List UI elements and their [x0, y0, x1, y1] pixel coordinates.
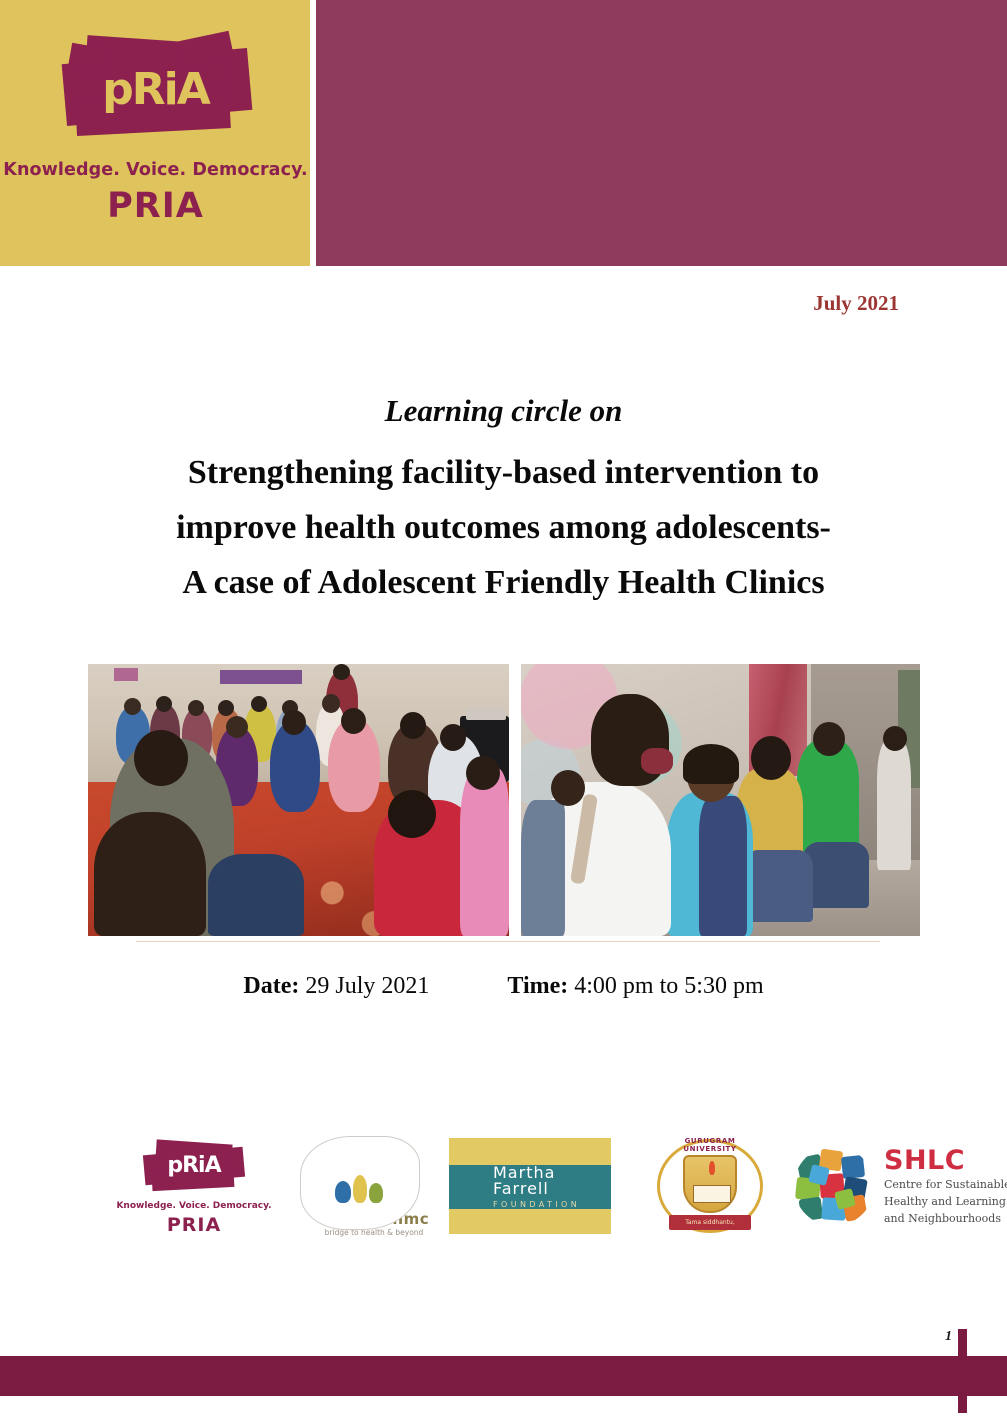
pria-brushstroke-small-icon: pRiA: [142, 1137, 246, 1195]
mff-subtitle: FOUNDATION: [493, 1201, 611, 1209]
shlc-lockup: SHLC Centre for Sustainable, Healthy and…: [794, 1146, 1007, 1226]
gurugram-university-crest-icon: GURUGRAM UNIVERSITY Tama siddhantu, jyot…: [657, 1133, 763, 1239]
header-maroon-panel: [316, 0, 1007, 266]
partner-logo-martha-farrell-foundation: M Martha Farrell FOUNDATION: [430, 1118, 630, 1254]
time-value: 4:00 pm to 5:30 pm: [574, 973, 763, 999]
cover-photo-row: [88, 664, 920, 936]
pria-logo: pRiA Knowledge. Voice. Democracy. PRIA: [28, 18, 283, 246]
title-line-1: Strengthening facility-based interventio…: [90, 445, 917, 500]
date-label: Date:: [243, 973, 299, 999]
partner-logo-pria: pRiA Knowledge. Voice. Democracy. PRIA: [104, 1118, 284, 1254]
partner-logo-gurugram-university: GURUGRAM UNIVERSITY Tama siddhantu, jyot…: [620, 1118, 800, 1254]
header-band: pRiA Knowledge. Voice. Democracy. PRIA: [0, 0, 1007, 266]
time-label: Time:: [507, 973, 568, 999]
photo-community-outreach-interaction: [521, 664, 920, 936]
pria-brushstroke-icon: pRiA: [60, 30, 252, 150]
footer-bar: [0, 1356, 1007, 1396]
event-meta: Date: 29 July 2021 Time: 4:00 pm to 5:30…: [0, 973, 1007, 1000]
cover-page: pRiA Knowledge. Voice. Democracy. PRIA J…: [0, 0, 1007, 1424]
title-kicker: Learning circle on: [0, 392, 1007, 431]
shlc-subtitle-line-1: Centre for Sustainable,: [884, 1178, 1007, 1191]
pria-small-wordmark: PRIA: [167, 1214, 221, 1236]
photo-divider-rule: [136, 941, 880, 942]
mff-card: M Martha Farrell FOUNDATION: [449, 1138, 611, 1234]
date-value: 29 July 2021: [305, 973, 429, 999]
photo-adolescent-group-discussion: [88, 664, 509, 936]
shlc-globe-icon: [794, 1146, 874, 1226]
pria-wordmark: PRIA: [107, 186, 204, 226]
title-block: Learning circle on Strengthening facilit…: [0, 392, 1007, 610]
partner-logo-mamta-himc: mamta-himc bridge to health & beyond: [270, 1118, 450, 1254]
pria-small-tagline: Knowledge. Voice. Democracy.: [116, 1201, 271, 1211]
mamta-figures-icon: [335, 1173, 389, 1203]
shlc-subtitle-line-3: and Neighbourhoods: [884, 1212, 1007, 1225]
page-number: 1: [945, 1329, 952, 1345]
gu-shield-icon: [683, 1155, 737, 1213]
partner-logo-row: pRiA Knowledge. Voice. Democracy. PRIA m…: [104, 1118, 954, 1254]
partner-logo-shlc: SHLC Centre for Sustainable, Healthy and…: [794, 1118, 1007, 1254]
title-line-2: improve health outcomes among adolescent…: [90, 500, 917, 555]
shlc-text-block: SHLC Centre for Sustainable, Healthy and…: [884, 1147, 1007, 1226]
title-line-3: A case of Adolescent Friendly Health Cli…: [90, 555, 917, 610]
issue-date: July 2021: [813, 291, 899, 316]
page-title: Strengthening facility-based interventio…: [0, 445, 1007, 610]
shlc-acronym: SHLC: [884, 1147, 1007, 1174]
india-map-icon: [300, 1136, 420, 1230]
pria-mark-glyphs: pRiA: [60, 30, 252, 150]
mff-teal-band: Martha Farrell FOUNDATION: [449, 1165, 611, 1209]
gu-motto-ribbon: Tama siddhantu, jyotirgamaya: [669, 1215, 751, 1230]
pria-tagline: Knowledge. Voice. Democracy.: [3, 160, 307, 180]
gu-arc-text: GURUGRAM UNIVERSITY: [657, 1137, 763, 1153]
pria-small-mark-glyphs: pRiA: [142, 1137, 246, 1195]
shlc-subtitle-line-2: Healthy and Learning Cit: [884, 1195, 1007, 1208]
mff-name: Martha Farrell: [493, 1165, 611, 1197]
